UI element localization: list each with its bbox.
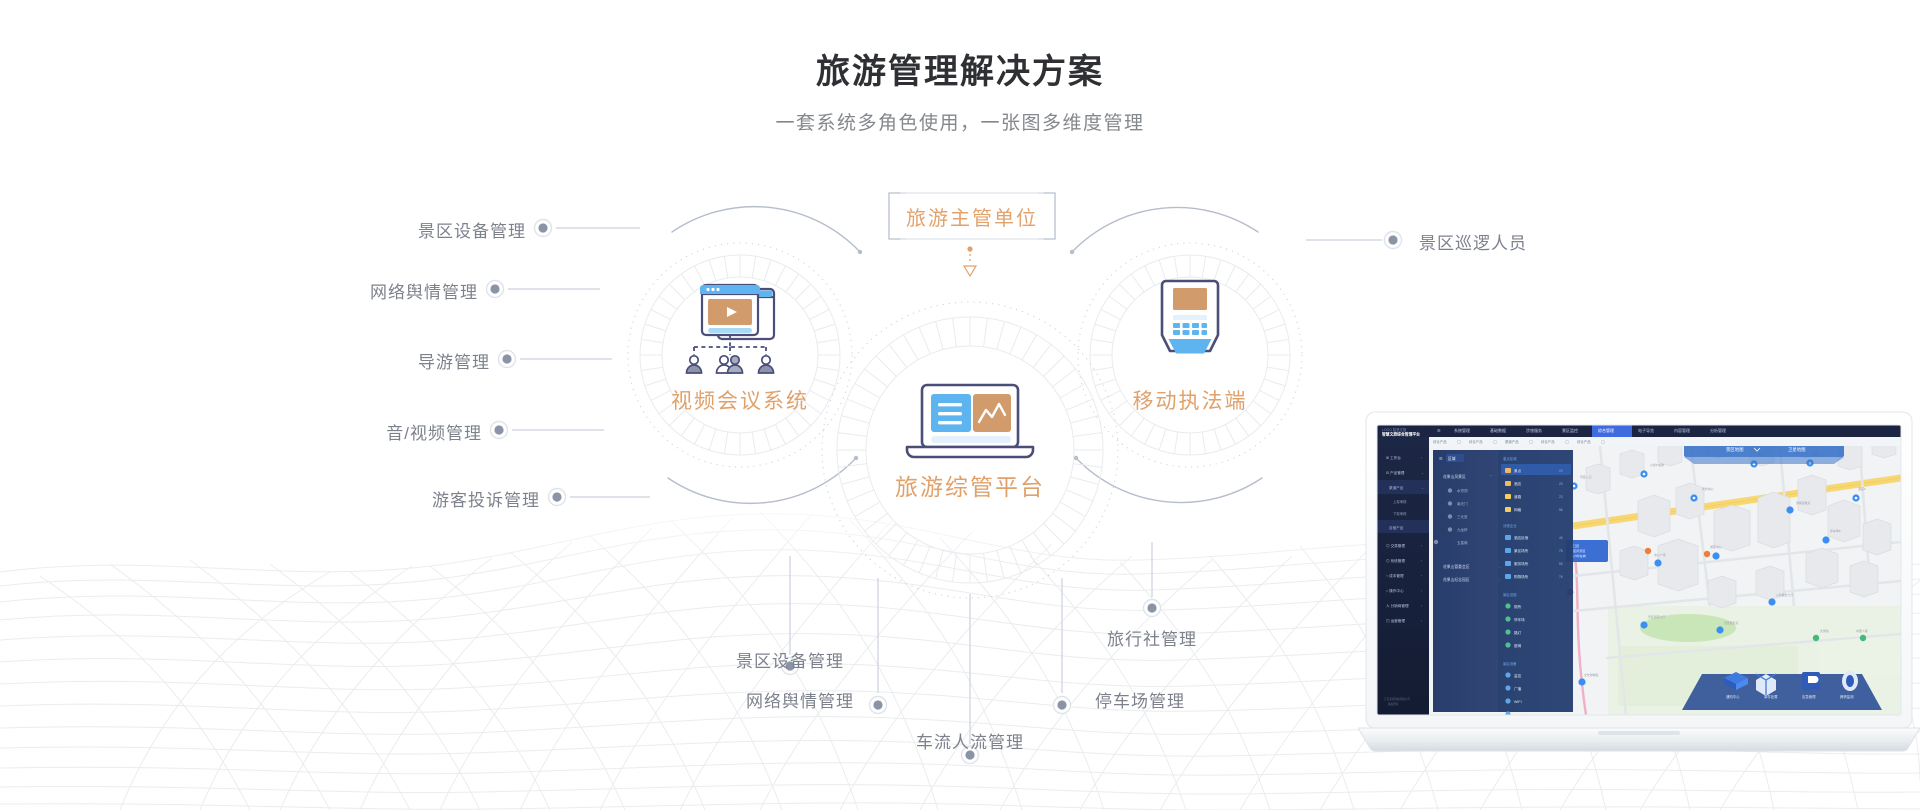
connector-dot: [499, 351, 516, 368]
svg-text:WIFI: WIFI: [1514, 700, 1522, 704]
video-bottom-arc: [668, 458, 856, 503]
svg-text:游客集散点: 游客集散点: [1796, 500, 1811, 505]
svg-text:⊞ 工作台: ⊞ 工作台: [1386, 455, 1401, 460]
svg-text:⌄: ⌄: [1421, 486, 1424, 490]
svg-text:综合产品: 综合产品: [1469, 439, 1483, 444]
svg-text:九龙桥: 九龙桥: [1457, 527, 1468, 532]
svg-text:23: 23: [1559, 469, 1563, 473]
left-connector-dots: [487, 220, 566, 506]
svg-text:公共服务大厅: 公共服务大厅: [1776, 592, 1793, 597]
svg-text:⊟ 产品管理: ⊟ 产品管理: [1386, 470, 1405, 475]
video-top-arc-dot: [858, 250, 862, 254]
page-subtitle: 一套系统多角色使用，一张图多维度管理: [0, 108, 1920, 135]
right-connector-dots: [1385, 232, 1402, 249]
svg-text:⌃: ⌃: [1489, 475, 1492, 479]
bottom-label-4: 停车场管理: [1020, 687, 1260, 712]
svg-text:LOGO 智慧文旅: LOGO 智慧文旅: [1382, 427, 1407, 432]
svg-text:花果山管委会区: 花果山管委会区: [1443, 564, 1470, 569]
svg-text:酒店A: 酒店A: [1858, 486, 1866, 491]
svg-text:☰: ☰: [1439, 456, 1443, 461]
connector-dot: [535, 220, 552, 237]
video-circle-group: [628, 207, 862, 504]
right-label-1: 景区巡逻人员: [1419, 229, 1659, 254]
mobile-bottom-arc: [1076, 458, 1262, 503]
svg-text:55: 55: [1559, 562, 1563, 566]
svg-text:通知中心: 通知中心: [1726, 694, 1740, 699]
svg-text:涉旅企业: 涉旅企业: [1503, 523, 1517, 528]
left-label-4: 音/视频管理: [242, 419, 482, 444]
svg-text:道路: 道路: [1514, 494, 1522, 499]
connector-dot: [1385, 232, 1402, 249]
svg-text:中国人保: 中国人保: [1856, 628, 1868, 633]
svg-text:系统管理: 系统管理: [1454, 427, 1470, 433]
svg-text:商务中心: 商务中心: [1702, 486, 1714, 491]
product-screenshot-laptop: 景区入口小商户超市 商务中心景区大门 商户小区酒店A 游客集散点停车场B 中心广…: [1358, 406, 1920, 772]
svg-text:景点: 景点: [1514, 468, 1522, 473]
node-label-mobile: 移动执法端: [1100, 385, 1280, 415]
svg-text:服务场所: 服务场所: [1514, 561, 1529, 566]
svg-text:渠道产品: 渠道产品: [1389, 485, 1404, 490]
svg-text:停车场B: 停车场B: [1830, 528, 1841, 533]
svg-text:自营产品: 自营产品: [1389, 525, 1404, 530]
svg-text:酒店: 酒店: [1514, 481, 1522, 486]
video-conference-icon: [687, 285, 775, 373]
svg-text:◎ 系统管理: ◎ 系统管理: [1386, 558, 1405, 563]
connector-dot: [491, 422, 508, 439]
svg-text:78: 78: [1559, 549, 1563, 553]
svg-text:事件处置: 事件处置: [1764, 694, 1778, 699]
svg-text:上架审核: 上架审核: [1393, 499, 1407, 504]
left-connector-lines: [508, 228, 650, 497]
connector-dot: [549, 489, 566, 506]
svg-text:应急管理: 应急管理: [1802, 694, 1816, 699]
bottom-label-2: 网络舆情管理: [680, 687, 920, 712]
mobile-circle-group: [1070, 207, 1302, 502]
svg-text:购物场所: 购物场所: [1514, 574, 1529, 579]
svg-text:智慧文旅综合管理平台: 智慧文旅综合管理平台: [1381, 432, 1420, 437]
svg-text:综合产品: 综合产品: [1541, 439, 1555, 444]
svg-text:☰: ☰: [1437, 428, 1441, 433]
svg-text:花果山风景区: 花果山风景区: [1443, 474, 1466, 479]
svg-text:花果山纪念园区: 花果山纪念园区: [1443, 577, 1470, 582]
svg-text:分析管理: 分析管理: [1710, 427, 1726, 433]
svg-text:景区服务点: 景区服务点: [1724, 620, 1739, 625]
bottom-label-5: 旅行社管理: [1032, 625, 1272, 650]
svg-text:酒店民宿: 酒店民宿: [1514, 535, 1529, 540]
svg-text:56: 56: [1559, 508, 1563, 512]
svg-text:综合产品: 综合产品: [1433, 439, 1447, 444]
svg-text:电子导览: 电子导览: [1638, 427, 1654, 433]
svg-text:渠道产品: 渠道产品: [1505, 439, 1519, 444]
svg-text:景区设备: 景区设备: [1503, 661, 1517, 666]
svg-text:内容管理: 内容管理: [1674, 427, 1690, 433]
svg-text:景区地图: 景区地图: [1726, 446, 1744, 453]
mobile-top-arc: [1072, 207, 1258, 252]
svg-text:版权所有: 版权所有: [1388, 702, 1399, 706]
connector-dot: [1144, 600, 1161, 617]
mobile-bottom-arc-dot: [1074, 456, 1078, 460]
svg-text:景区监控: 景区监控: [1562, 427, 1578, 433]
svg-text:水帘洞: 水帘洞: [1457, 488, 1468, 493]
svg-text:景区游客大厅: 景区游客大厅: [1648, 614, 1665, 619]
authority-arrow: [964, 246, 976, 276]
svg-text:卫星地图: 卫星地图: [1788, 446, 1806, 453]
svg-text:景区设施: 景区设施: [1503, 592, 1517, 597]
left-label-2: 网络舆情管理: [238, 278, 478, 303]
svg-text:南天门: 南天门: [1457, 501, 1468, 506]
left-label-3: 导游管理: [250, 348, 490, 373]
svg-text:广播: 广播: [1514, 686, 1522, 691]
svg-text:舆情监测: 舆情监测: [1840, 694, 1854, 699]
laptop-dashboard-icon: [907, 385, 1033, 457]
svg-text:江苏某某科技有限公司: 江苏某某科技有限公司: [1384, 697, 1410, 701]
svg-text:○ 操作中心: ○ 操作中心: [1386, 588, 1404, 593]
connector-dot: [487, 281, 504, 298]
svg-text:监控: 监控: [1514, 673, 1522, 678]
svg-text:◎ 交易管理: ◎ 交易管理: [1386, 543, 1405, 548]
svg-text:涉旅服务: 涉旅服务: [1526, 427, 1542, 433]
left-label-5: 游客投诉管理: [300, 486, 540, 511]
svg-text:人 分销商管理: 人 分销商管理: [1386, 603, 1409, 608]
svg-text:厕所: 厕所: [1514, 604, 1522, 609]
svg-text:停车场: 停车场: [1514, 617, 1525, 622]
svg-text:游客中心: 游客中心: [1710, 544, 1722, 549]
svg-text:23: 23: [1559, 482, 1563, 486]
bottom-label-1: 景区设备管理: [670, 647, 910, 672]
mobile-terminal-icon: [1162, 281, 1218, 354]
svg-text:重点区域: 重点区域: [1503, 456, 1517, 461]
svg-text:景区入口: 景区入口: [1580, 474, 1592, 479]
svg-text:三元宫: 三元宫: [1457, 514, 1468, 519]
node-label-platform: 旅游综管平台: [860, 468, 1080, 502]
svg-text:⌄: ⌄: [1421, 471, 1424, 475]
svg-text:文化博物馆: 文化博物馆: [1584, 672, 1599, 677]
svg-text:基础数据: 基础数据: [1490, 427, 1506, 433]
svg-text:综合产品: 综合产品: [1577, 439, 1591, 444]
node-label-video: 视频会议系统: [640, 385, 840, 415]
video-top-arc: [672, 207, 860, 252]
svg-text:座椅: 座椅: [1514, 643, 1522, 648]
left-label-1: 景区设备管理: [286, 217, 526, 242]
authority-label: 旅游主管单位: [889, 193, 1055, 239]
page-root: 旅游管理解决方案 一套系统多角色使用，一张图多维度管理: [0, 0, 1920, 810]
bottom-label-3: 车流人流管理: [850, 728, 1090, 753]
svg-text:⌁ 成本管理: ⌁ 成本管理: [1386, 573, 1404, 578]
svg-text:76: 76: [1559, 575, 1563, 579]
svg-text:景区场所: 景区场所: [1514, 548, 1529, 553]
svg-text:小商户超市: 小商户超市: [1650, 462, 1665, 467]
svg-text:路灯: 路灯: [1514, 630, 1522, 635]
svg-text:▤ 运营管理: ▤ 运营管理: [1386, 618, 1405, 623]
svg-text:下架审核: 下架审核: [1393, 511, 1407, 516]
svg-text:玉皇阁: 玉皇阁: [1457, 540, 1468, 545]
svg-text:网格: 网格: [1514, 507, 1522, 512]
video-bottom-arc-dot: [854, 456, 858, 460]
svg-text:23: 23: [1559, 495, 1563, 499]
svg-text:文博馆: 文博馆: [1820, 628, 1829, 633]
page-title: 旅游管理解决方案: [0, 44, 1920, 93]
svg-text:45: 45: [1559, 536, 1563, 540]
mobile-top-arc-dot: [1070, 250, 1074, 254]
svg-text:区域: 区域: [1448, 456, 1456, 461]
dashboard-screen-content: 景区入口小商户超市 商务中心景区大门 商户小区酒店A 游客集散点停车场B 中心广…: [1377, 425, 1901, 717]
svg-text:综合管理: 综合管理: [1598, 427, 1614, 433]
svg-text:中心广场: 中心广场: [1654, 552, 1666, 557]
